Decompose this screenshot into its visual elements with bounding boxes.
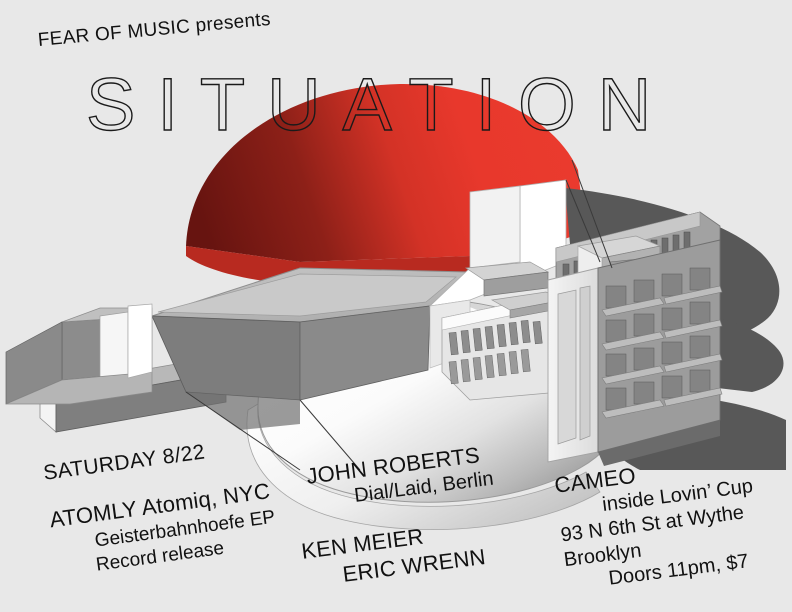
venue-block: CAMEO inside Lovin’ Cup 93 N 6th St at W… (553, 448, 764, 596)
page-title: SITUATION (86, 68, 673, 142)
event-poster: FEAR OF MUSIC presents SITUATION SATURDA… (0, 0, 792, 612)
modernist-tower (548, 212, 722, 466)
